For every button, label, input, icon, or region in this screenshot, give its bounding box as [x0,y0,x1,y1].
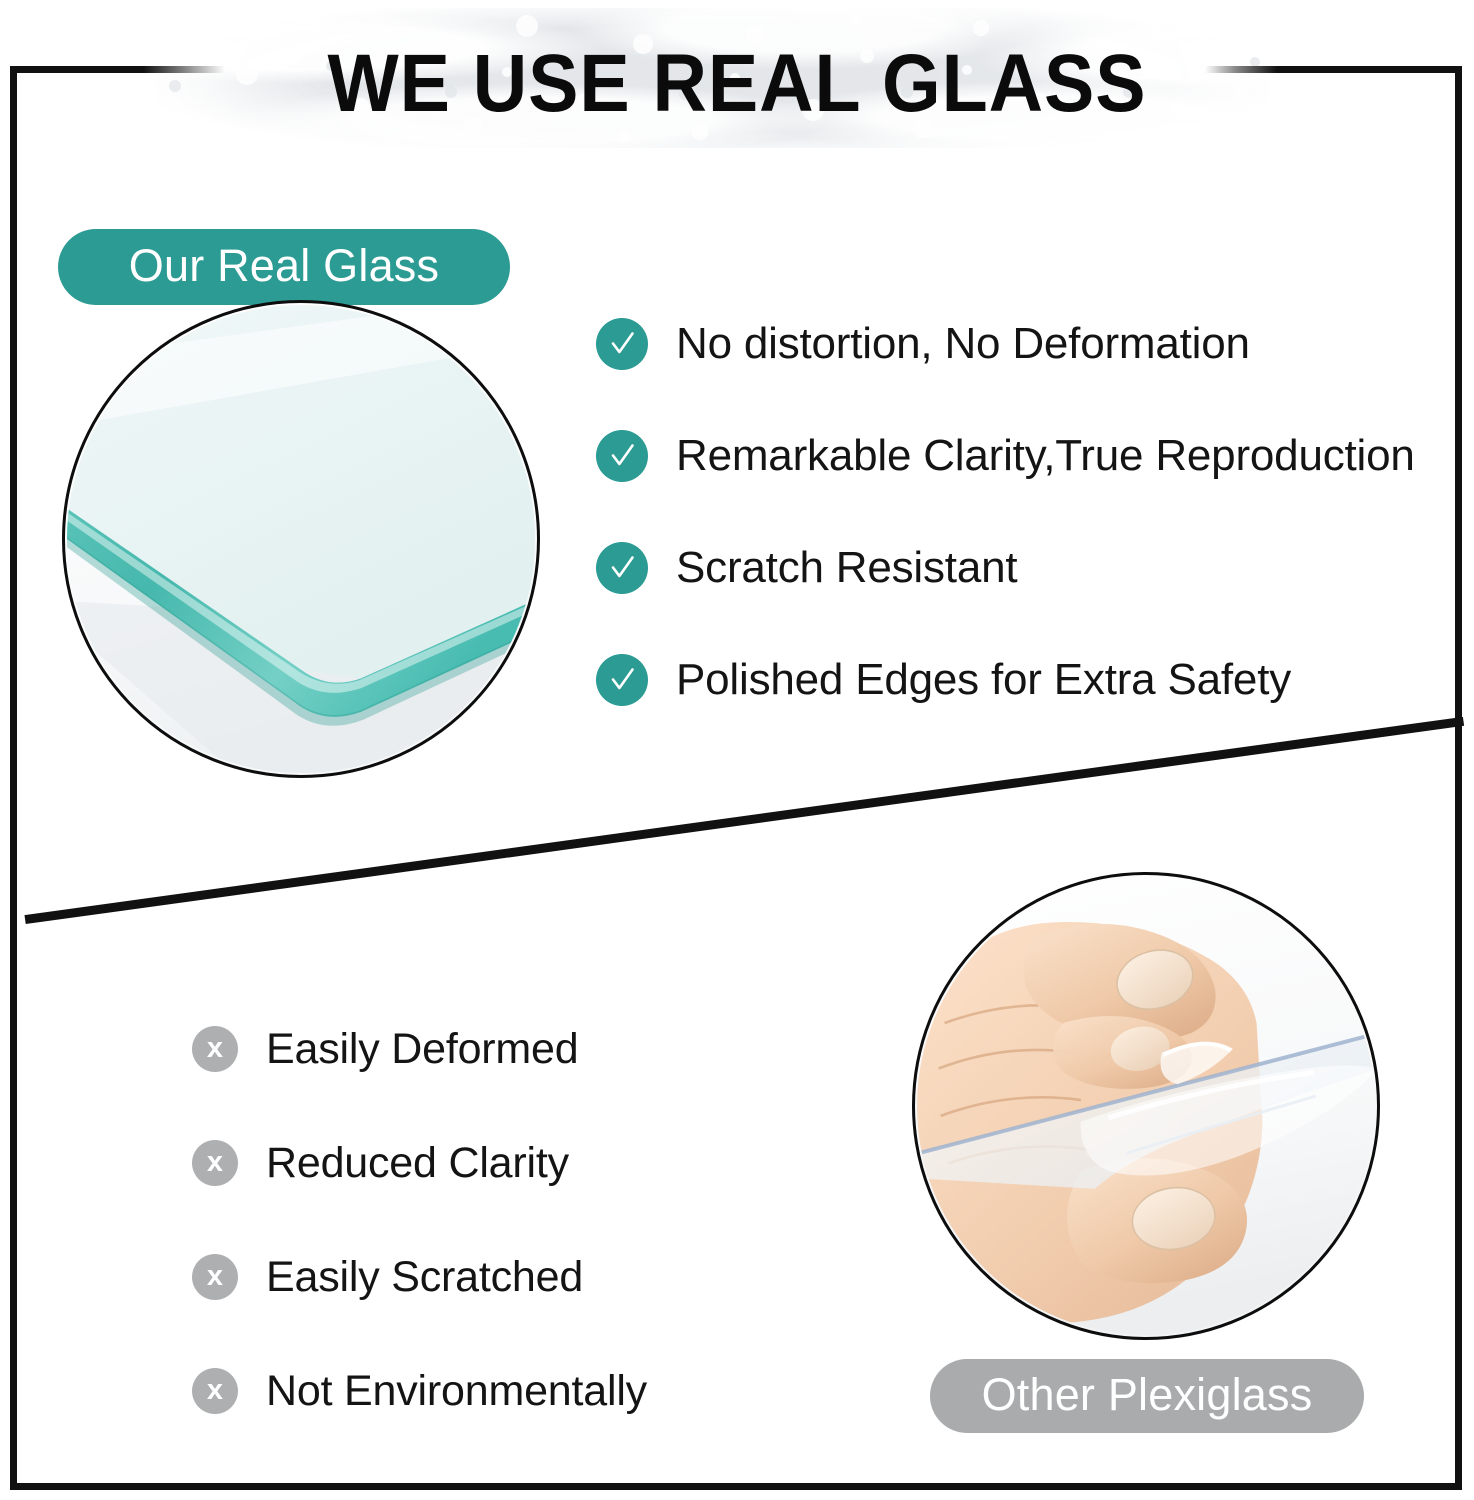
drawback-label: Easily Scratched [266,1253,583,1302]
drawback-label: Easily Deformed [266,1025,578,1074]
plexiglass-illustration [915,875,1377,1337]
page-title: WE USE REAL GLASS [59,38,1415,130]
check-circle-icon [596,318,648,370]
feature-label: Remarkable Clarity,True Reproduction [676,431,1415,481]
drawback-label: Reduced Clarity [266,1139,569,1188]
badge-other-plexiglass-label: Other Plexiglass [982,1369,1313,1421]
real-glass-feature-list: No distortion, No Deformation Remarkable… [596,288,1462,736]
frame-border-right [1455,66,1462,1490]
badge-our-real-glass-label: Our Real Glass [129,240,439,292]
check-circle-icon [596,430,648,482]
feature-item: Scratch Resistant [596,512,1462,624]
drawback-item: x Not Environmentally [192,1334,892,1448]
plexiglass-drawback-list: x Easily Deformed x Reduced Clarity x Ea… [192,992,892,1448]
feature-label: No distortion, No Deformation [676,319,1250,369]
poster-root: WE USE REAL GLASS Our Real Glass [0,0,1474,1500]
photo-plexiglass-bending [912,872,1380,1340]
check-circle-icon [596,654,648,706]
drawback-item: x Reduced Clarity [192,1106,892,1220]
photo-real-glass-corner [62,300,540,778]
frame-border-left [10,66,17,1490]
drawback-label: Not Environmentally [266,1367,647,1416]
drawback-item: x Easily Deformed [192,992,892,1106]
feature-item: No distortion, No Deformation [596,288,1462,400]
feature-label: Polished Edges for Extra Safety [676,655,1291,705]
x-circle-icon: x [192,1254,238,1300]
drawback-item: x Easily Scratched [192,1220,892,1334]
x-circle-icon: x [192,1140,238,1186]
x-circle-icon: x [192,1368,238,1414]
badge-our-real-glass: Our Real Glass [58,229,510,305]
badge-other-plexiglass: Other Plexiglass [930,1359,1364,1433]
real-glass-illustration [65,303,537,775]
feature-item: Polished Edges for Extra Safety [596,624,1462,736]
feature-item: Remarkable Clarity,True Reproduction [596,400,1462,512]
feature-label: Scratch Resistant [676,543,1017,593]
check-circle-icon [596,542,648,594]
x-circle-icon: x [192,1026,238,1072]
frame-border-bottom [10,1483,1462,1490]
